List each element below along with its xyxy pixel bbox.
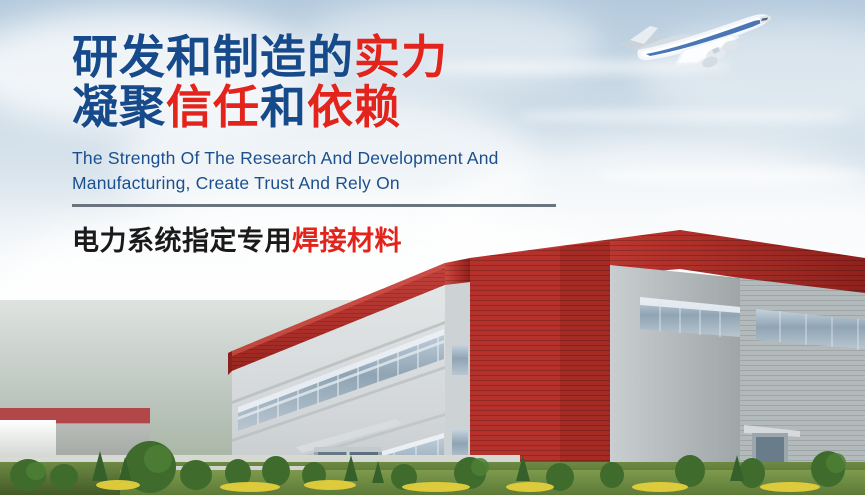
airplane-icon [612, 4, 780, 90]
subtitle-line-1: The Strength Of The Research And Develop… [72, 146, 632, 171]
banner-copy: 研发和制造的实力 凝聚信任和依赖 The Strength Of The Res… [72, 34, 632, 258]
tagline-part-1: 电力系统指定专用 [72, 226, 292, 256]
tagline: 电力系统指定专用焊接材料 [72, 219, 632, 258]
headline-line-2-part-4: 依赖 [307, 81, 401, 133]
headline-line-1: 研发和制造的实力 [72, 34, 632, 82]
headline-line-2-part-1: 凝聚 [72, 81, 166, 133]
headline-line-2: 凝聚信任和依赖 [72, 84, 632, 132]
headline-line-2-part-3: 和 [260, 81, 307, 133]
subtitle-line-2: Manufacturing, Create Trust And Rely On [72, 171, 632, 196]
headline-line-2-part-2: 信任 [166, 81, 260, 133]
headline-line-1-part-2: 实力 [354, 31, 448, 83]
divider-rule [72, 204, 556, 207]
tagline-part-2: 焊接材料 [292, 226, 402, 256]
headline-line-1-part-1: 研发和制造的 [72, 31, 354, 83]
promotional-banner: 研发和制造的实力 凝聚信任和依赖 The Strength Of The Res… [0, 0, 865, 495]
landscaping [0, 415, 865, 495]
